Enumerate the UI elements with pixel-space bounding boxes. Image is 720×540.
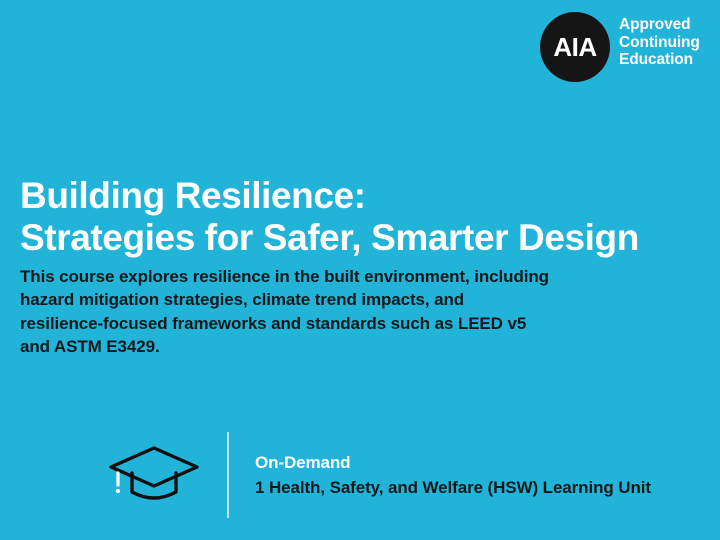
aia-program-line-2: Continuing: [619, 34, 700, 52]
course-promo-slide: AIA Approved Continuing Education Buildi…: [0, 0, 720, 540]
graduation-cap-icon: [106, 440, 202, 510]
course-title-line-1: Building Resilience:: [20, 175, 639, 217]
aia-seal-icon: AIA: [540, 12, 610, 82]
meta-divider: [227, 432, 229, 518]
course-description: This course explores resilience in the b…: [20, 265, 549, 359]
course-description-line-4: and ASTM E3429.: [20, 335, 549, 358]
course-description-line-3: resilience-focused frameworks and standa…: [20, 312, 549, 335]
course-title-line-2: Strategies for Safer, Smarter Design: [20, 217, 639, 259]
course-meta-bar: On-Demand 1 Health, Safety, and Welfare …: [106, 430, 651, 520]
course-description-line-1: This course explores resilience in the b…: [20, 265, 549, 288]
aia-program-line-1: Approved: [619, 16, 700, 34]
course-format-label: On-Demand: [255, 453, 651, 473]
course-title: Building Resilience: Strategies for Safe…: [20, 175, 639, 259]
aia-seal-label: AIA: [553, 34, 596, 60]
learning-unit-label: 1 Health, Safety, and Welfare (HSW) Lear…: [255, 478, 651, 498]
meta-text-group: On-Demand 1 Health, Safety, and Welfare …: [255, 453, 651, 498]
aia-program-text: Approved Continuing Education: [619, 12, 700, 69]
course-description-line-2: hazard mitigation strategies, climate tr…: [20, 288, 549, 311]
aia-accreditation-lockup: AIA Approved Continuing Education: [540, 12, 700, 82]
aia-program-line-3: Education: [619, 51, 700, 69]
